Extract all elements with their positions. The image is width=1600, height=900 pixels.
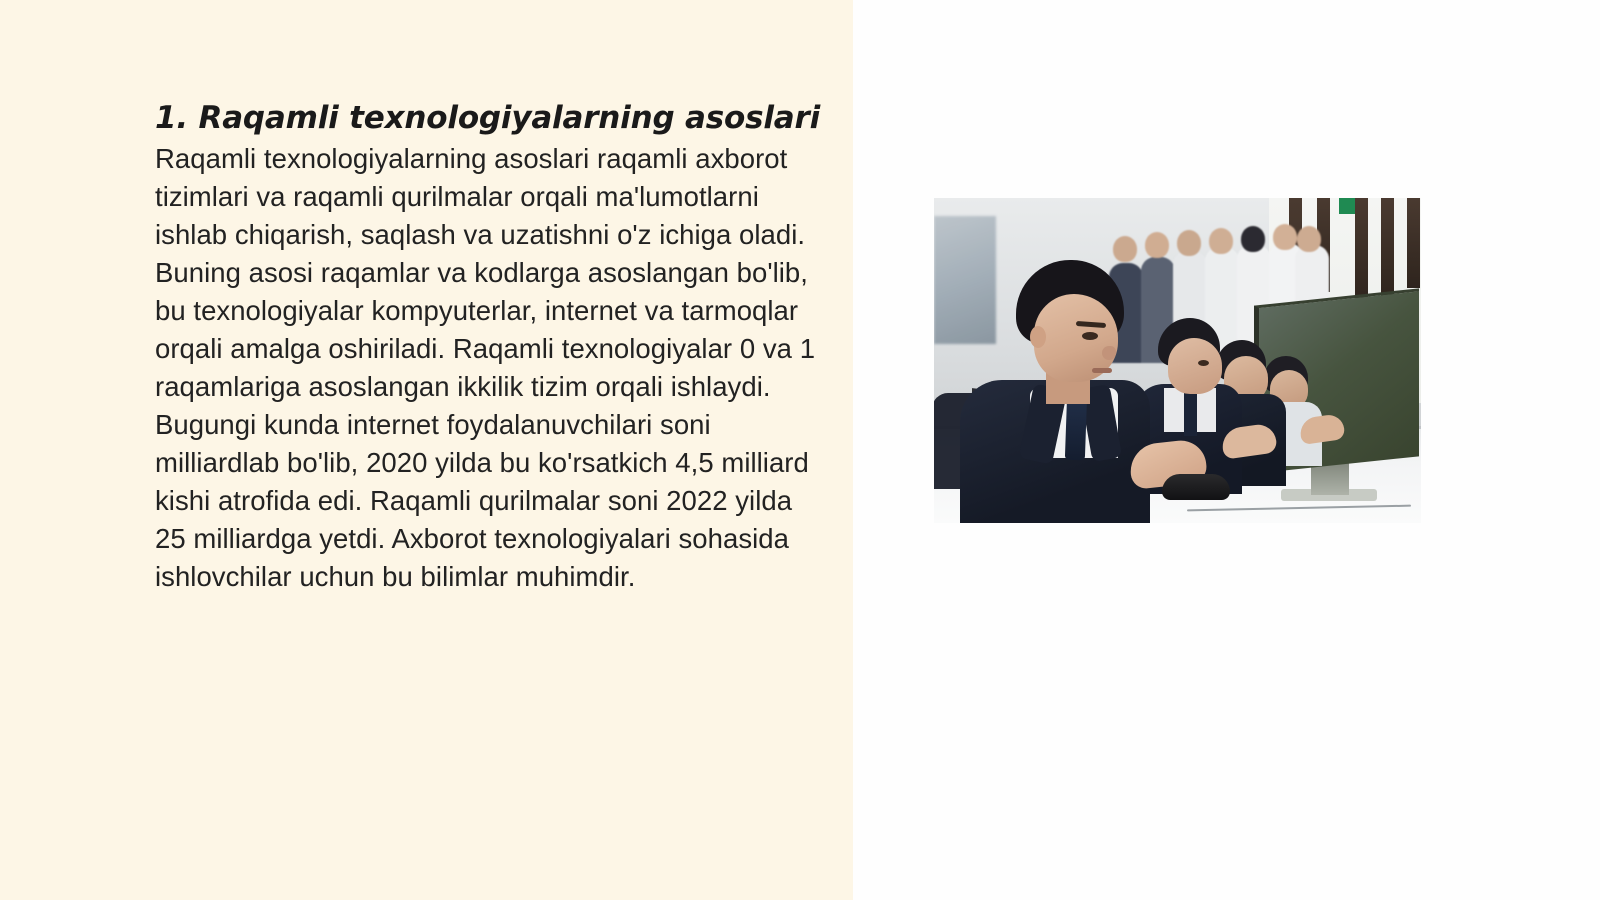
crowd-person-head xyxy=(1241,226,1265,252)
crowd-person-head xyxy=(1273,224,1297,250)
blind-slat xyxy=(1407,198,1420,288)
student-eye xyxy=(1198,360,1209,366)
blind-slat xyxy=(1381,198,1394,300)
text-column: 1. Raqamli texnologiyalarning asoslari R… xyxy=(155,100,827,596)
student-eye xyxy=(1082,332,1098,340)
student-mouth xyxy=(1092,368,1112,373)
student-nose xyxy=(1102,346,1116,360)
wall-poster xyxy=(934,216,996,344)
computer-mouse xyxy=(1162,474,1230,500)
crowd-person-head xyxy=(1177,230,1201,256)
crowd-person-head xyxy=(1113,236,1137,262)
student-tie xyxy=(1184,392,1197,436)
classroom-photo xyxy=(934,198,1421,523)
body-paragraph: Raqamli texnologiyalarning asoslari raqa… xyxy=(155,140,827,596)
page-title: 1. Raqamli texnologiyalarning asoslari xyxy=(155,100,827,138)
student-face xyxy=(1168,338,1222,394)
blind-slat xyxy=(1355,198,1368,304)
slide-canvas: 1. Raqamli texnologiyalarning asoslari R… xyxy=(0,0,1600,900)
student-ear xyxy=(1030,326,1046,348)
crowd-person-head xyxy=(1145,232,1169,258)
mouse-cable xyxy=(1187,505,1411,512)
photo-scene xyxy=(934,198,1421,523)
crowd-person-head xyxy=(1209,228,1233,254)
crowd-person-head xyxy=(1297,226,1321,252)
green-accent xyxy=(1339,198,1355,214)
